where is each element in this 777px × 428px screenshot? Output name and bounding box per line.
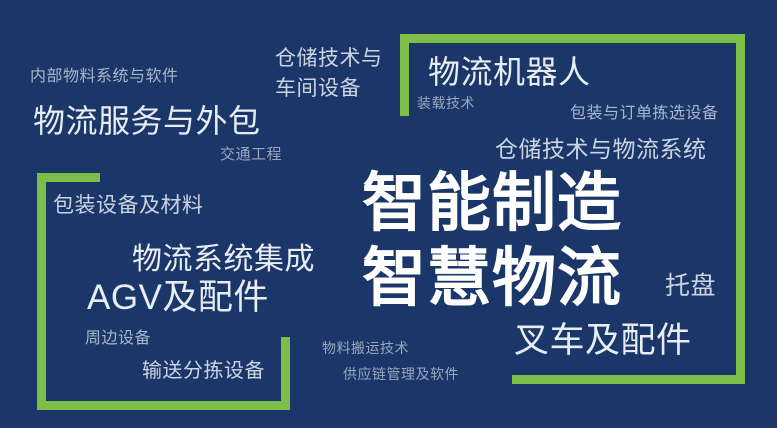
word-cloud-banner: 内部物料系统与软件 仓储技术与 车间设备 物流服务与外包 交通工程 物流机器人 … — [0, 0, 777, 428]
keyword-logistics-system-integration: 物流系统集成 — [132, 243, 315, 277]
keyword-packaging-equipment-materials: 包装设备及材料 — [53, 194, 204, 218]
left-bracket-top-bar — [37, 173, 100, 182]
left-bracket-right-bar — [281, 337, 290, 410]
keyword-packaging-order-picking-equipment: 包装与订单拣选设备 — [570, 105, 719, 123]
keyword-logistics-robot: 物流机器人 — [428, 55, 591, 91]
right-bracket-left-bar — [400, 34, 409, 116]
keyword-traffic-engineering: 交通工程 — [220, 147, 282, 164]
right-bracket-top-bar — [400, 34, 745, 43]
keyword-warehouse-tech-workshop-equipment-line2: 车间设备 — [275, 76, 361, 103]
keyword-agv-and-accessories: AGV及配件 — [87, 278, 269, 317]
keyword-loading-technology: 装载技术 — [417, 96, 475, 112]
left-bracket-bottom-bar — [37, 401, 290, 410]
right-bracket-right-bar — [736, 34, 745, 384]
right-bracket-bottom-bar — [512, 375, 745, 384]
keyword-conveying-sorting-equipment: 输送分拣设备 — [142, 360, 265, 382]
keyword-forklift-and-accessories: 叉车及配件 — [514, 321, 692, 360]
keyword-warehouse-tech-workshop-equipment-line1: 仓储技术与 — [275, 46, 383, 73]
keyword-logistics-service-outsourcing: 物流服务与外包 — [33, 104, 261, 140]
keyword-material-handling-technology: 物料搬运技术 — [322, 341, 409, 357]
keyword-warehouse-tech-logistics-system: 仓储技术与物流系统 — [495, 137, 707, 163]
keyword-peripheral-equipment: 周边设备 — [85, 330, 151, 348]
headline-line-2: 智慧物流 — [362, 243, 622, 315]
headline-line-1: 智能制造 — [362, 168, 622, 240]
keyword-internal-material-systems-software: 内部物料系统与软件 — [30, 68, 179, 86]
left-bracket-left-bar — [37, 173, 46, 410]
keyword-supply-chain-management-software: 供应链管理及软件 — [343, 367, 459, 383]
keyword-pallet: 托盘 — [665, 272, 716, 300]
